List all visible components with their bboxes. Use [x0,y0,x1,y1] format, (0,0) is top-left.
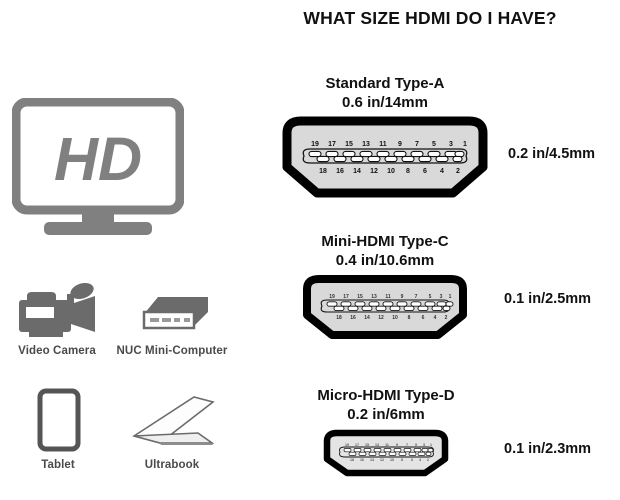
svg-text:5: 5 [415,443,417,447]
svg-text:HD: HD [54,125,142,193]
svg-text:16: 16 [360,458,364,462]
svg-text:6: 6 [422,315,425,321]
svg-text:13: 13 [371,294,377,300]
svg-text:17: 17 [343,294,349,300]
mini-computer-icon [108,282,236,340]
svg-text:9: 9 [401,294,404,300]
svg-text:14: 14 [353,168,361,175]
connector-width-label: 0.4 in/10.6mm [272,251,498,270]
connector-height-label-a: 0.2 in/4.5mm [508,146,595,162]
svg-text:9: 9 [396,443,398,447]
svg-text:17: 17 [355,443,359,447]
svg-text:17: 17 [328,141,336,148]
connector-width-label: 0.2 in/6mm [290,405,482,424]
hdmi-port-diagram-a: 1917 1513 119 7 5 3 1 1816 1412 108 6 4 … [256,115,514,201]
svg-text:10: 10 [390,458,394,462]
svg-text:15: 15 [365,443,369,447]
hd-television-icon: HD [12,98,184,238]
device-label: Tablet [8,459,108,471]
svg-text:13: 13 [362,141,370,148]
svg-text:7: 7 [415,294,418,300]
svg-text:1: 1 [430,443,432,447]
svg-text:6: 6 [411,458,413,462]
device-tablet: Tablet [8,392,108,471]
svg-text:8: 8 [401,458,403,462]
svg-text:5: 5 [429,294,432,300]
svg-text:3: 3 [440,294,443,300]
svg-text:14: 14 [370,458,374,462]
device-label: NUC Mini-Computer [108,345,236,357]
svg-text:10: 10 [392,315,398,321]
svg-text:1: 1 [449,294,452,300]
hdmi-port-diagram-c: 1917 1513 119 7 5 3 1 1816 1412 108 6 4 … [272,273,498,343]
connector-height-label-c: 0.1 in/2.5mm [504,291,591,307]
laptop-icon [110,392,234,454]
svg-text:19: 19 [311,141,319,148]
svg-text:5: 5 [432,141,436,148]
connector-micro-hdmi-type-d: Micro-HDMI Type-D 0.2 in/6mm [290,386,482,479]
svg-text:7: 7 [406,443,408,447]
svg-text:3: 3 [449,141,453,148]
svg-text:11: 11 [385,294,391,300]
device-label: Video Camera [2,345,112,357]
svg-text:19: 19 [345,443,349,447]
tablet-icon [8,392,108,454]
svg-text:16: 16 [350,315,356,321]
device-ultrabook: Ultrabook [110,392,234,471]
connector-height-label-d: 0.1 in/2.3mm [504,441,591,457]
connector-mini-hdmi-type-c: Mini-HDMI Type-C 0.4 in/10.6mm [272,232,498,343]
svg-text:12: 12 [380,458,384,462]
svg-text:15: 15 [345,141,353,148]
svg-text:15: 15 [357,294,363,300]
device-label: Ultrabook [110,459,234,471]
svg-text:6: 6 [423,168,427,175]
svg-text:12: 12 [370,168,378,175]
svg-text:7: 7 [415,141,419,148]
hdmi-port-diagram-d: 1917 1513 119 7 5 3 1 1816 1412 108 6 4 … [290,427,482,479]
svg-text:9: 9 [398,141,402,148]
svg-text:11: 11 [379,141,387,148]
page-title: WHAT SIZE HDMI DO I HAVE? [240,8,620,29]
svg-text:18: 18 [350,458,354,462]
connector-name: Standard Type-A [256,74,514,93]
svg-text:11: 11 [385,443,389,447]
svg-text:14: 14 [364,315,370,321]
svg-text:2: 2 [456,168,460,175]
device-nuc-mini-computer: NUC Mini-Computer [108,282,236,357]
svg-text:18: 18 [336,315,342,321]
connector-width-label: 0.6 in/14mm [256,93,514,112]
svg-text:4: 4 [434,315,437,321]
svg-text:1: 1 [463,141,467,148]
svg-text:3: 3 [423,443,425,447]
connector-name: Mini-HDMI Type-C [272,232,498,251]
video-camera-icon [2,282,112,340]
svg-text:19: 19 [329,294,335,300]
svg-text:4: 4 [440,168,444,175]
svg-text:2: 2 [445,315,448,321]
svg-text:13: 13 [375,443,379,447]
svg-text:8: 8 [408,315,411,321]
svg-text:16: 16 [336,168,344,175]
device-video-camera: Video Camera [2,282,112,357]
connector-standard-type-a: Standard Type-A 0.6 in/14mm [256,74,514,201]
svg-text:2: 2 [427,458,429,462]
svg-text:12: 12 [378,315,384,321]
svg-text:4: 4 [419,458,421,462]
connector-name: Micro-HDMI Type-D [290,386,482,405]
svg-text:8: 8 [406,168,410,175]
svg-text:10: 10 [387,168,395,175]
svg-text:18: 18 [319,168,327,175]
